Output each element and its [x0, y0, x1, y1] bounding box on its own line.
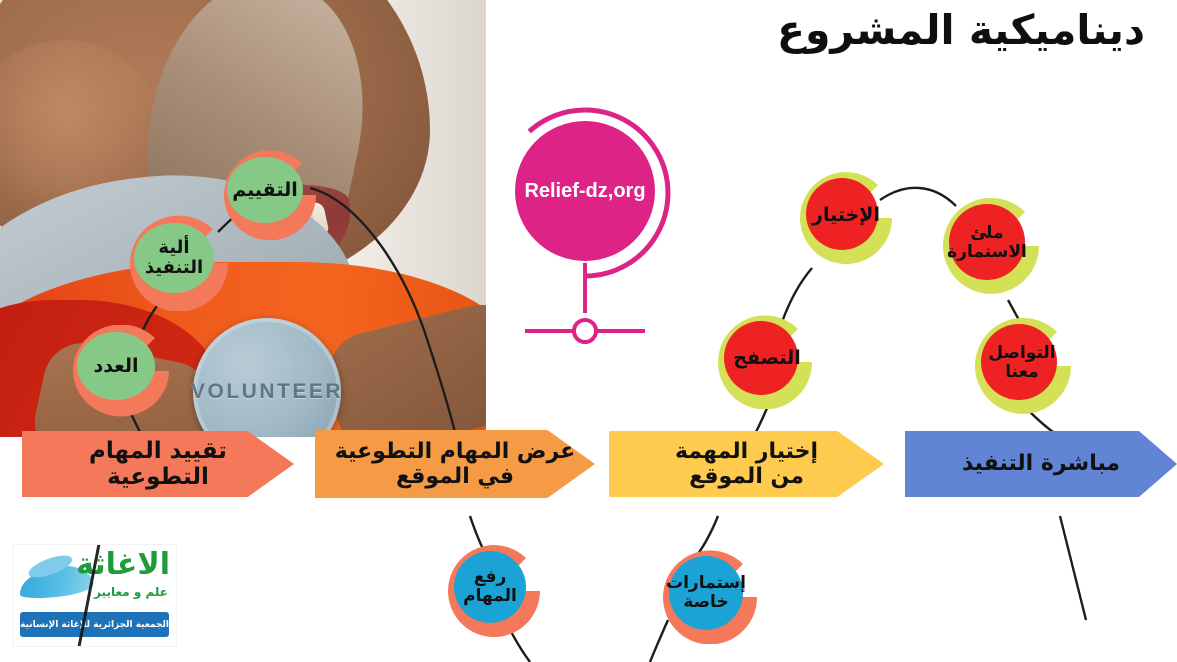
page-title: ديناميكية المشروع [777, 6, 1145, 54]
badge-istimarat-label: إستمارات خاصة [666, 574, 746, 611]
badge-istimarat-label-wrap: إستمارات خاصة [664, 559, 748, 627]
badge-adad-label-wrap: العدد [77, 333, 155, 399]
arrow-step-2[interactable]: عرض المهام التطوعية في الموقع [315, 430, 595, 498]
badge-tasaffuh-label-wrap: التصفح [724, 339, 810, 377]
badge-taqyim[interactable]: التقييم [224, 150, 316, 240]
arrow-step-3-label: إختيار المهمة من الموقع [661, 439, 832, 489]
arrow-step-3[interactable]: إختيار المهمة من الموقع [609, 431, 884, 497]
badge-raf-maham-label: رفع المهام [463, 568, 517, 605]
badge-tawasul[interactable]: التواصل معنا [975, 318, 1071, 414]
hub-circle[interactable]: Relief-dz,org [515, 121, 655, 261]
arrow-step-1-label: تقييد المهام التطوعية [22, 438, 294, 490]
badge-mil-label: ملئ الاستمارة [947, 224, 1027, 261]
arrow-step-4[interactable]: مباشرة التنفيذ [905, 431, 1177, 497]
logo-name-bar: الجمعية الجزائرية للإغاثة الإنسانية [20, 612, 169, 637]
badge-aliya[interactable]: ألية التنفيذ [130, 215, 228, 311]
volunteer-pin-label: VOLUNTEER [191, 380, 343, 404]
badge-ikhtiyar[interactable]: الإختيار [800, 172, 892, 264]
badge-raf-maham[interactable]: رفع المهام [448, 545, 540, 637]
arrow-step-4-label: مباشرة التنفيذ [948, 451, 1134, 476]
hub-joint [574, 320, 596, 342]
organization-logo: الاغاثة علم و معايير الجمعية الجزائرية ل… [13, 545, 176, 646]
arrow-step-2-label: عرض المهام التطوعية في الموقع [321, 439, 589, 489]
logo-tagline: علم و معايير [94, 585, 168, 599]
badge-tasaffuh-label: التصفح [733, 348, 801, 369]
badge-mil-label-wrap: ملئ الاستمارة [943, 208, 1031, 278]
badge-taqyim-label-wrap: التقييم [227, 157, 303, 223]
center-hub: Relief-dz,org [489, 98, 679, 348]
badge-tawasul-label: التواصل معنا [988, 344, 1055, 381]
hub-label: Relief-dz,org [524, 180, 645, 203]
badge-ikhtiyar-label-wrap: الإختيار [804, 196, 888, 234]
badge-aliya-label: ألية التنفيذ [145, 238, 203, 278]
logo-full-name: الجمعية الجزائرية للإغاثة الإنسانية [20, 620, 169, 630]
badge-adad-label: العدد [93, 356, 138, 377]
badge-raf-maham-label-wrap: رفع المهام [451, 553, 529, 621]
arrow-step-1[interactable]: تقييد المهام التطوعية [22, 431, 294, 497]
badge-tasaffuh[interactable]: التصفح [718, 315, 812, 409]
badge-ikhtiyar-label: الإختيار [812, 205, 880, 226]
badge-tawasul-label-wrap: التواصل معنا [977, 328, 1067, 398]
badge-aliya-label-wrap: ألية التنفيذ [134, 223, 214, 293]
badge-istimarat[interactable]: إستمارات خاصة [663, 550, 757, 644]
badge-taqyim-label: التقييم [232, 180, 298, 201]
slide-canvas: VOLUNTEER ديناميكية المشروع [0, 0, 1177, 662]
badge-adad[interactable]: العدد [73, 325, 169, 417]
badge-mil[interactable]: ملئ الاستمارة [943, 198, 1039, 294]
